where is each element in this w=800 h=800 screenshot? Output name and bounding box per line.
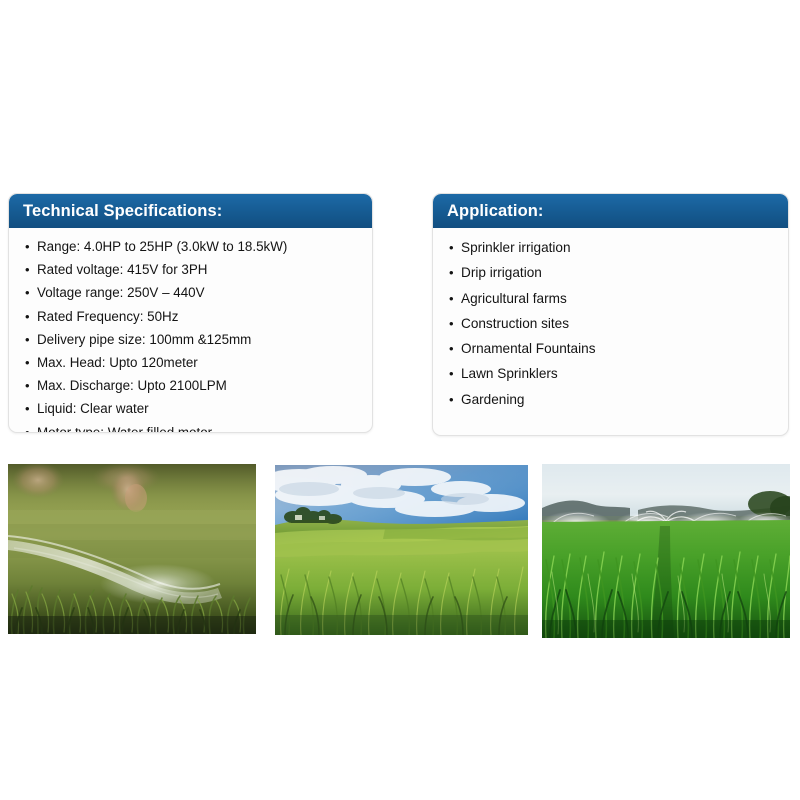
photo-green-field — [275, 465, 528, 635]
list-item-label: Max. Discharge: Upto 2100LPM — [37, 378, 227, 393]
bullet-icon: • — [449, 361, 454, 386]
list-item: • Max. Discharge: Upto 2100LPM — [23, 374, 362, 397]
technical-specifications-panel: Technical Specifications: • Range: 4.0HP… — [8, 193, 373, 433]
list-item: • Liquid: Clear water — [23, 397, 362, 420]
list-item-label: Ornamental Fountains — [461, 341, 596, 356]
list-item: • Drip irrigation — [447, 260, 778, 285]
technical-specifications-list: • Range: 4.0HP to 25HP (3.0kW to 18.5kW)… — [23, 235, 362, 433]
technical-specifications-header: Technical Specifications: — [9, 194, 372, 228]
list-item-label: Agricultural farms — [461, 291, 567, 306]
bullet-icon: • — [449, 260, 454, 285]
list-item-label: Motor type: Water filled motor — [37, 425, 212, 433]
list-item-label: Gardening — [461, 392, 524, 407]
application-list: • Sprinkler irrigation • Drip irrigation… — [447, 235, 778, 412]
list-item: • Agricultural farms — [447, 286, 778, 311]
bullet-icon: • — [25, 328, 30, 351]
list-item-label: Sprinkler irrigation — [461, 240, 571, 255]
photo-crop-irrigation — [542, 464, 790, 638]
list-item-label: Liquid: Clear water — [37, 401, 149, 416]
list-item-label: Construction sites — [461, 316, 569, 331]
list-item: • Delivery pipe size: 100mm &125mm — [23, 328, 362, 351]
list-item-label: Voltage range: 250V – 440V — [37, 285, 205, 300]
list-item: • Rated voltage: 415V for 3PH — [23, 258, 362, 281]
bullet-icon: • — [449, 387, 454, 412]
bullet-icon: • — [449, 235, 454, 260]
technical-specifications-body: • Range: 4.0HP to 25HP (3.0kW to 18.5kW)… — [9, 228, 372, 433]
list-item-label: Rated voltage: 415V for 3PH — [37, 262, 207, 277]
application-panel: Application: • Sprinkler irrigation • Dr… — [432, 193, 789, 436]
bullet-icon: • — [449, 336, 454, 361]
list-item-label: Lawn Sprinklers — [461, 366, 558, 381]
list-item: • Motor type: Water filled motor — [23, 421, 362, 433]
list-item-label: Range: 4.0HP to 25HP (3.0kW to 18.5kW) — [37, 239, 287, 254]
bullet-icon: • — [449, 311, 454, 336]
application-title: Application: — [447, 203, 544, 220]
list-item: • Rated Frequency: 50Hz — [23, 305, 362, 328]
list-item-label: Drip irrigation — [461, 265, 542, 280]
lawn-sprinkler-image — [8, 464, 256, 634]
photo-lawn-sprinkler — [8, 464, 256, 634]
technical-specifications-title: Technical Specifications: — [23, 203, 222, 220]
list-item: • Ornamental Fountains — [447, 336, 778, 361]
crop-irrigation-image — [542, 464, 790, 638]
list-item: • Voltage range: 250V – 440V — [23, 281, 362, 304]
application-header: Application: — [433, 194, 788, 228]
bullet-icon: • — [25, 351, 30, 374]
list-item: • Gardening — [447, 387, 778, 412]
list-item: • Max. Head: Upto 120meter — [23, 351, 362, 374]
application-body: • Sprinkler irrigation • Drip irrigation… — [433, 228, 788, 420]
bullet-icon: • — [25, 281, 30, 304]
bullet-icon: • — [25, 397, 30, 420]
bullet-icon: • — [449, 286, 454, 311]
list-item-label: Max. Head: Upto 120meter — [37, 355, 198, 370]
list-item: • Range: 4.0HP to 25HP (3.0kW to 18.5kW) — [23, 235, 362, 258]
list-item: • Lawn Sprinklers — [447, 361, 778, 386]
bullet-icon: • — [25, 258, 30, 281]
list-item: • Sprinkler irrigation — [447, 235, 778, 260]
bullet-icon: • — [25, 305, 30, 328]
bullet-icon: • — [25, 421, 30, 433]
list-item-label: Delivery pipe size: 100mm &125mm — [37, 332, 251, 347]
list-item-label: Rated Frequency: 50Hz — [37, 309, 178, 324]
bullet-icon: • — [25, 235, 30, 258]
green-field-image — [275, 465, 528, 635]
list-item: • Construction sites — [447, 311, 778, 336]
bullet-icon: • — [25, 374, 30, 397]
